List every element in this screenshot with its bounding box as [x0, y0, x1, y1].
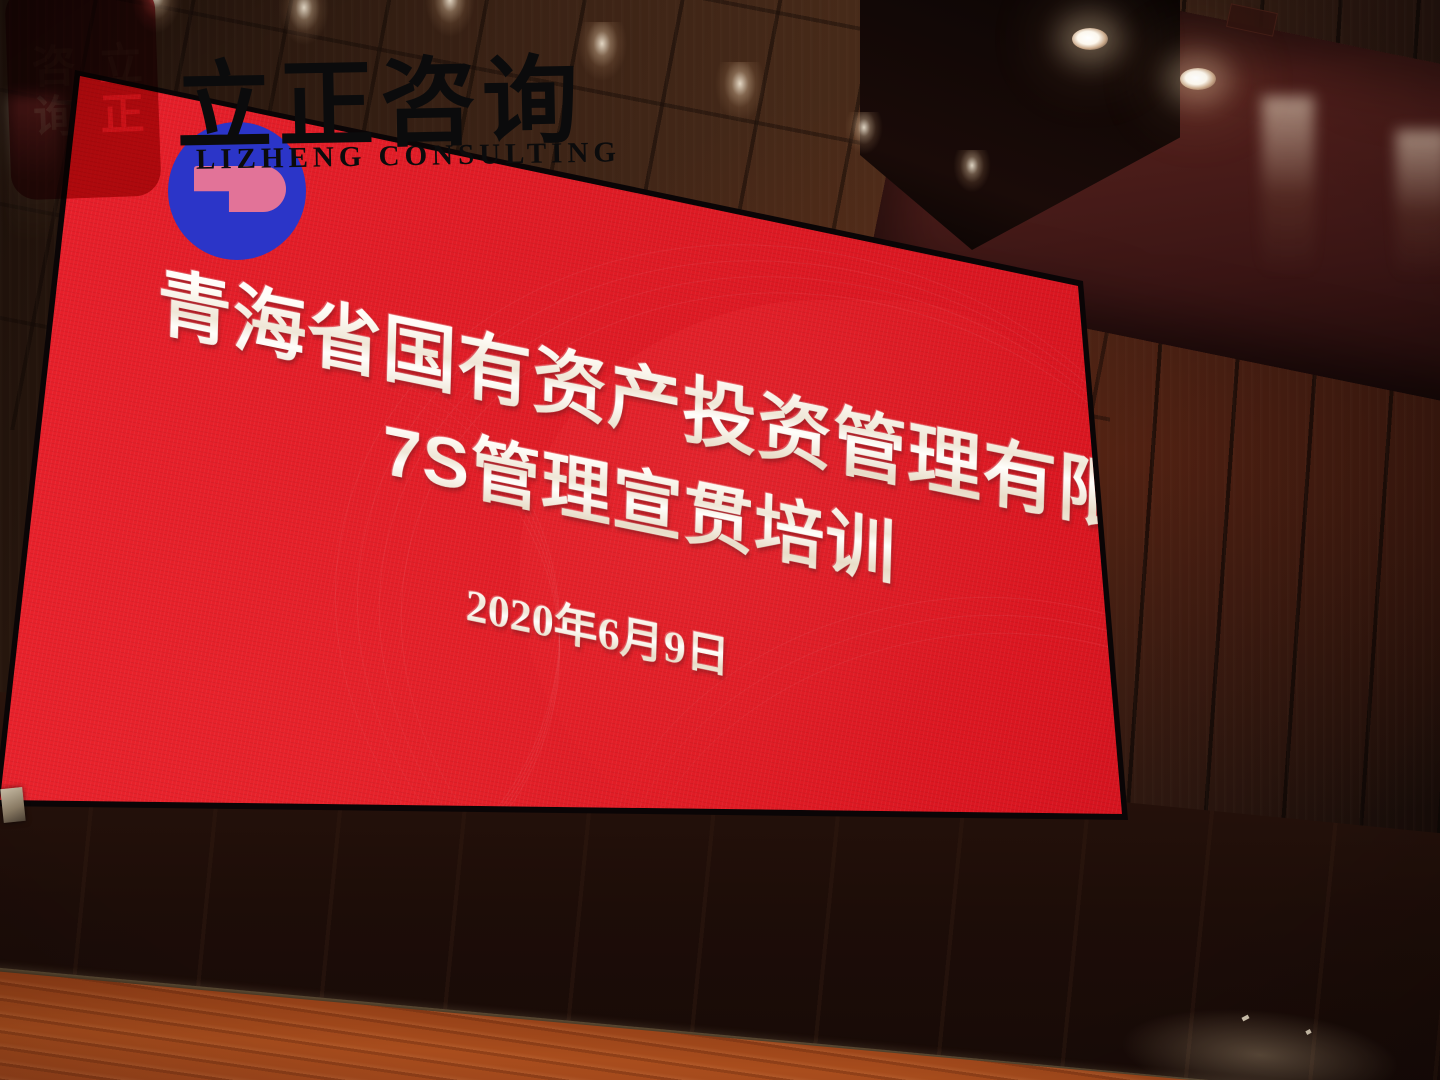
right-wall-light-smear	[1396, 130, 1440, 280]
floor-object-left	[0, 787, 25, 823]
photo-scene: 青海省国有资产投资管理有限公司 7S管理宣贯培训 2020年6月9日 咨询 立正…	[0, 0, 1440, 1080]
ceiling-downlight	[1072, 28, 1108, 50]
right-wall-light-smear	[1262, 96, 1314, 276]
slide-date: 2020年6月9日	[465, 568, 731, 686]
left-wall-light-smear	[8, 96, 60, 246]
ceiling-downlight	[1180, 68, 1216, 90]
